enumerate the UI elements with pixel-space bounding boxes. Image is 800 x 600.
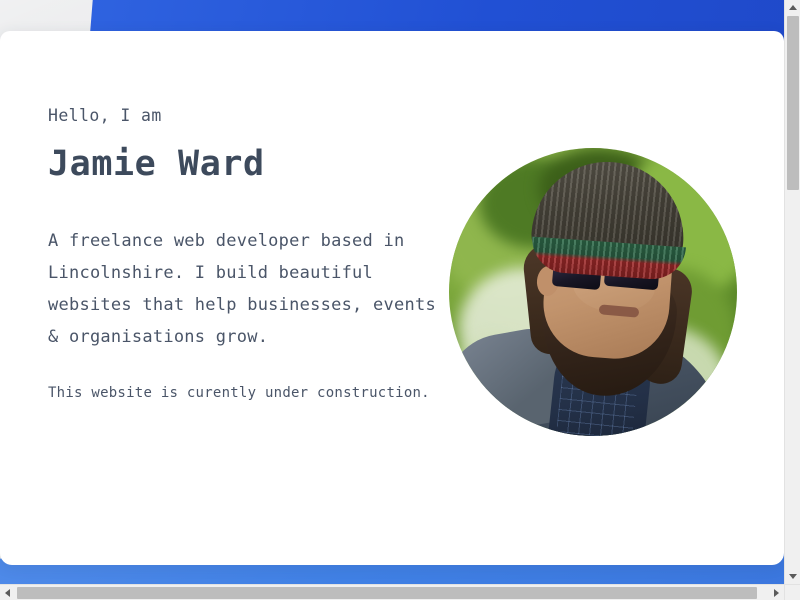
horizontal-scrollbar-thumb[interactable] [17, 587, 757, 599]
vertical-scrollbar[interactable] [784, 0, 800, 584]
scroll-left-icon[interactable] [5, 589, 10, 597]
scroll-down-icon[interactable] [789, 574, 797, 579]
vertical-scrollbar-thumb[interactable] [787, 16, 799, 190]
scroll-right-icon[interactable] [774, 589, 779, 597]
bio-paragraph: A freelance web developer based in Linco… [48, 225, 448, 353]
scroll-up-icon[interactable] [789, 5, 797, 10]
page-title: Jamie Ward [48, 144, 448, 184]
greeting-text: Hello, I am [48, 105, 448, 126]
hero-photo-column [448, 79, 738, 436]
avatar [449, 148, 737, 436]
hero-text-column: Hello, I am Jamie Ward A freelance web d… [48, 79, 448, 405]
hero-card: Hello, I am Jamie Ward A freelance web d… [0, 31, 784, 565]
scrollbar-corner [784, 584, 800, 600]
construction-notice: This website is curently under construct… [48, 381, 448, 405]
horizontal-scrollbar[interactable] [0, 584, 784, 600]
browser-viewport: Hello, I am Jamie Ward A freelance web d… [0, 0, 784, 584]
